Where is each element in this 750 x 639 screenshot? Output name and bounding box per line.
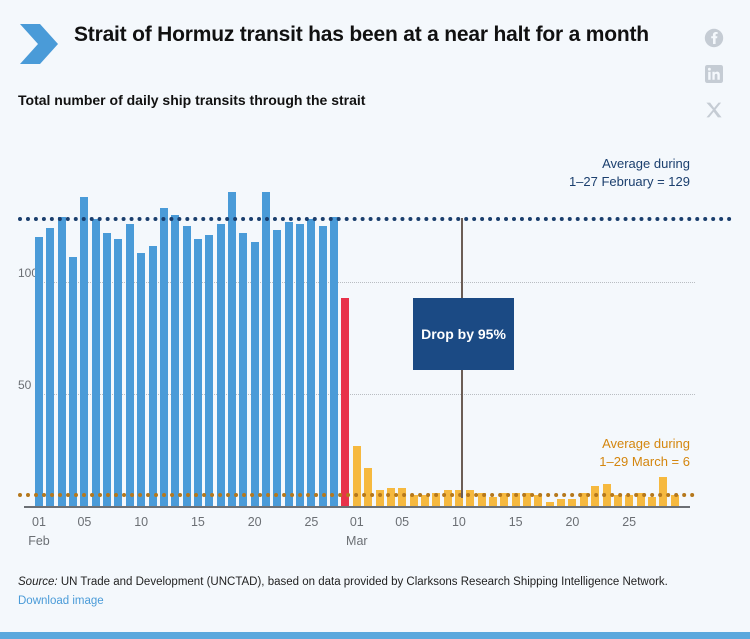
bar xyxy=(35,237,43,506)
source-note: Source: UN Trade and Development (UNCTAD… xyxy=(18,574,732,591)
bar xyxy=(239,233,247,506)
x-twitter-icon[interactable] xyxy=(704,100,724,120)
bar xyxy=(568,499,576,506)
x-axis-month-label: Feb xyxy=(19,534,59,548)
bar xyxy=(489,497,497,506)
bar xyxy=(194,239,202,506)
bar xyxy=(330,217,338,506)
bar xyxy=(149,246,157,506)
facebook-icon[interactable] xyxy=(704,28,724,48)
bar xyxy=(659,477,667,506)
linkedin-icon[interactable] xyxy=(704,64,724,84)
bar xyxy=(103,233,111,506)
callout-leader-line-bottom xyxy=(461,370,463,498)
bar xyxy=(80,197,88,506)
bar xyxy=(387,488,395,506)
x-axis-tick-label: 25 xyxy=(609,515,649,529)
bar xyxy=(251,242,259,506)
bar xyxy=(296,224,304,506)
x-axis-tick-label: 20 xyxy=(552,515,592,529)
bar xyxy=(183,226,191,506)
bar xyxy=(319,226,327,506)
x-axis-tick-label: 15 xyxy=(178,515,218,529)
gridline-100 xyxy=(35,282,695,283)
callout-leader-line-top xyxy=(461,218,463,298)
bottom-accent-bar xyxy=(0,632,750,639)
chart-plot-area: 100 50 Average during 1–27 February = 12… xyxy=(0,130,750,560)
bar xyxy=(137,253,145,506)
x-axis-tick-label: 20 xyxy=(235,515,275,529)
page-title: Strait of Hormuz transit has been at a n… xyxy=(74,22,674,48)
march-average-label: Average during 1–29 March = 6 xyxy=(599,435,690,470)
reference-line-march-average xyxy=(18,493,695,497)
bar xyxy=(307,219,315,506)
x-axis-tick-label: 10 xyxy=(121,515,161,529)
chart-subtitle: Total number of daily ship transits thro… xyxy=(18,92,658,108)
chevron-right-logo xyxy=(18,22,60,66)
bar xyxy=(126,224,134,506)
march-average-label-line1: Average during xyxy=(599,435,690,453)
bar xyxy=(92,219,100,506)
bar xyxy=(398,488,406,506)
infographic-card: Strait of Hormuz transit has been at a n… xyxy=(0,0,750,639)
bar xyxy=(69,257,77,506)
x-axis-tick-label: 15 xyxy=(496,515,536,529)
x-axis-tick-label: 25 xyxy=(291,515,331,529)
bar xyxy=(228,192,236,506)
chart-footer: Source: UN Trade and Development (UNCTAD… xyxy=(18,574,732,609)
bar xyxy=(353,446,361,506)
reference-line-february-average xyxy=(18,217,732,221)
source-label: Source: xyxy=(18,576,58,588)
bar xyxy=(160,208,168,506)
bar xyxy=(46,228,54,506)
ytick-label-50: 50 xyxy=(18,378,31,392)
x-axis-tick-label: 05 xyxy=(382,515,422,529)
chart-header: Strait of Hormuz transit has been at a n… xyxy=(0,0,750,128)
gridline-50 xyxy=(35,394,695,395)
bar xyxy=(341,298,349,506)
bar xyxy=(285,222,293,506)
bar xyxy=(364,468,372,506)
bar xyxy=(171,215,179,506)
february-average-label: Average during 1–27 February = 129 xyxy=(569,155,690,190)
x-axis-tick-label: 05 xyxy=(64,515,104,529)
bar xyxy=(557,499,565,506)
february-average-label-line2: 1–27 February = 129 xyxy=(569,173,690,191)
source-text: UN Trade and Development (UNCTAD), based… xyxy=(58,576,668,588)
x-axis-line xyxy=(24,506,690,508)
x-axis-tick-label: 10 xyxy=(439,515,479,529)
social-share-group xyxy=(704,28,726,136)
bar xyxy=(273,230,281,506)
x-axis-month-label: Mar xyxy=(337,534,377,548)
drop-callout-box: Drop by 95% xyxy=(413,298,514,370)
bar xyxy=(217,224,225,506)
february-average-label-line1: Average during xyxy=(569,155,690,173)
bar xyxy=(58,217,66,506)
x-axis-tick-label: 01 xyxy=(337,515,377,529)
bar xyxy=(114,239,122,506)
bar xyxy=(262,192,270,506)
bar xyxy=(648,497,656,506)
download-image-link[interactable]: Download image xyxy=(18,595,104,607)
march-average-label-line2: 1–29 March = 6 xyxy=(599,453,690,471)
x-axis-tick-label: 01 xyxy=(19,515,59,529)
bar xyxy=(205,235,213,506)
